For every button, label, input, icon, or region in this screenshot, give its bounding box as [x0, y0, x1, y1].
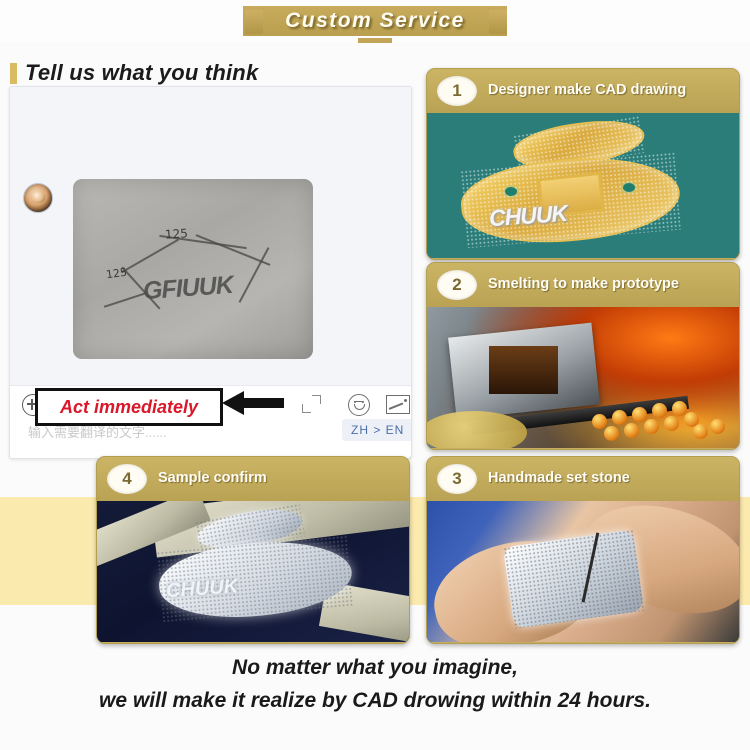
emoji-icon[interactable] — [348, 394, 370, 416]
sketch-stroke — [104, 292, 146, 307]
step-card-header: 2 Smelting to make prototype — [427, 263, 739, 307]
image-icon[interactable] — [386, 395, 410, 414]
top-banner: Custom Service — [0, 0, 750, 42]
step-title: Designer make CAD drawing — [488, 82, 686, 99]
step-card-image — [427, 307, 739, 448]
act-immediately-label: Act immediately — [60, 397, 198, 418]
footer-tagline: No matter what you imagine, we will make… — [0, 645, 750, 725]
chat-section-heading: Tell us what you think — [10, 58, 410, 88]
page-title: Custom Service — [243, 6, 507, 36]
step-card-4[interactable]: 4 Sample confirm CHUUK — [96, 456, 410, 644]
step-card-header: 3 Handmade set stone — [427, 457, 739, 501]
sketch-stroke — [121, 239, 179, 274]
step-card-image: CHUUK — [97, 501, 409, 642]
avatar — [23, 183, 53, 213]
sketch-note-top: 125 — [165, 226, 189, 242]
step-number: 2 — [437, 270, 477, 300]
footer-line-1: No matter what you imagine, — [232, 652, 518, 685]
sketch-scribble-text: GFIUUK — [142, 271, 234, 306]
step-card-3[interactable]: 3 Handmade set stone — [426, 456, 740, 644]
sketch-attachment-image[interactable]: 125 125 GFIUUK — [73, 179, 313, 359]
step-title: Sample confirm — [158, 470, 267, 487]
step-title: Handmade set stone — [488, 470, 630, 487]
heading-text: Tell us what you think — [25, 60, 258, 86]
expand-icon[interactable] — [302, 395, 321, 413]
step-card-image — [427, 501, 739, 642]
footer-line-2: we will make it realize by CAD drowing w… — [99, 685, 651, 718]
step-number: 3 — [437, 464, 477, 494]
step-title: Smelting to make prototype — [488, 276, 679, 293]
step-number: 4 — [107, 464, 147, 494]
step-card-header: 4 Sample confirm — [97, 457, 409, 501]
left-arrow-icon — [222, 390, 284, 416]
heading-accent-bar — [10, 63, 17, 84]
step-card-image: CHUUK — [427, 113, 739, 258]
banner-underline — [358, 38, 392, 43]
step-number: 1 — [437, 76, 477, 106]
sketch-note-left: 125 — [105, 266, 128, 282]
language-toggle-button[interactable]: ZH > EN — [342, 419, 412, 441]
act-immediately-annotation: Act immediately — [35, 388, 223, 426]
step-card-1[interactable]: 1 Designer make CAD drawing CHUUK — [426, 68, 740, 260]
step-card-2[interactable]: 2 Smelting to make prototype — [426, 262, 740, 450]
step-card-header: 1 Designer make CAD drawing — [427, 69, 739, 113]
